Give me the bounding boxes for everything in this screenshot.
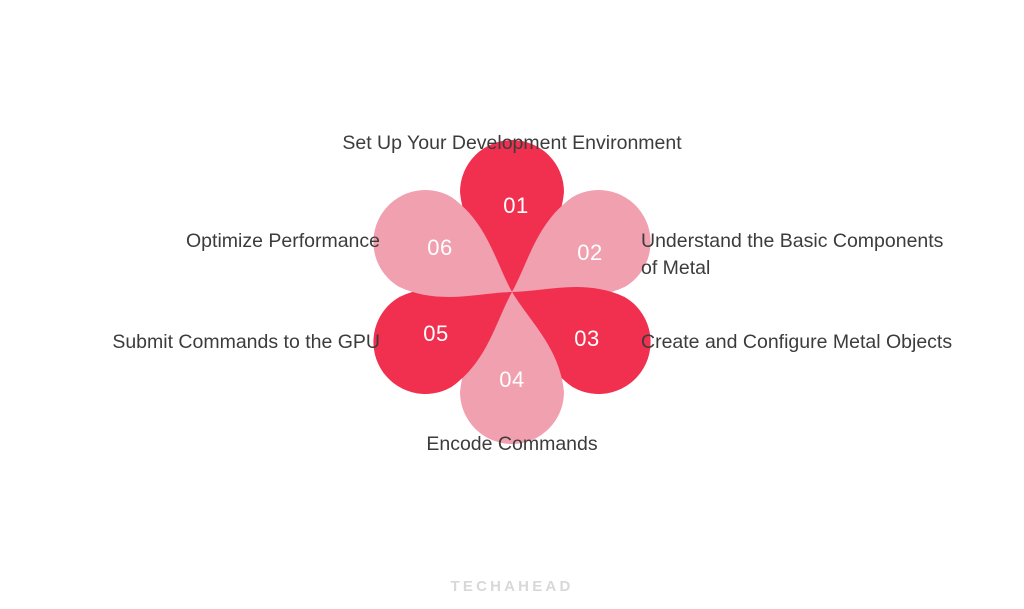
petal-number-03: 03 xyxy=(574,326,599,351)
step-label-01: Set Up Your Development Environment xyxy=(212,130,812,157)
petal-flower-diagram: 010203040506 xyxy=(0,0,1024,609)
step-label-06: Optimize Performance xyxy=(20,228,380,255)
step-label-05: Submit Commands to the GPU xyxy=(20,329,380,356)
brand-watermark: TECHAHEAD xyxy=(0,578,1024,595)
petal-group xyxy=(354,140,669,444)
step-label-02: Understand the Basic Components of Metal xyxy=(641,228,981,282)
petal-number-05: 05 xyxy=(423,321,448,346)
petal-number-02: 02 xyxy=(577,240,602,265)
petal-number-04: 04 xyxy=(499,367,524,392)
step-label-03: Create and Configure Metal Objects xyxy=(641,329,991,356)
petal-number-01: 01 xyxy=(503,193,528,218)
infographic-canvas: 010203040506 Set Up Your Development Env… xyxy=(0,0,1024,609)
step-label-04: Encode Commands xyxy=(262,431,762,458)
petal-number-06: 06 xyxy=(427,235,452,260)
